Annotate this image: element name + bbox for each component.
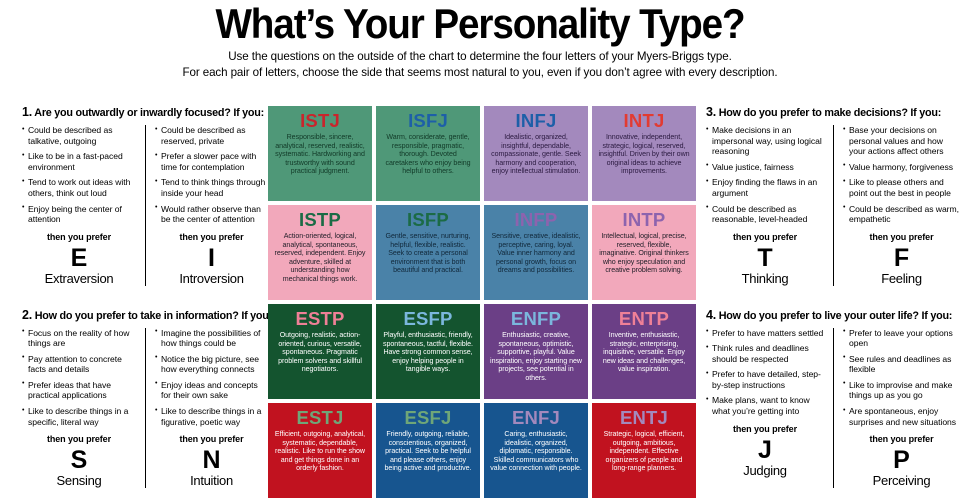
question-2-left-then: then you prefer [22,434,136,444]
type-code: INFJ [490,110,582,131]
question-4-option-p[interactable]: Prefer to leave your options open See ru… [833,328,960,489]
preference-name-judging: Judging [706,463,824,478]
question-4-option-j[interactable]: Prefer to have matters settled Think rul… [706,328,833,489]
type-card-isfp[interactable]: ISFP Gentle, sensitive, nurturing, helpf… [376,205,480,300]
question-4-columns: Prefer to have matters settled Think rul… [706,328,960,489]
preference-name-intuition: Intuition [155,473,268,488]
question-3-text: How do you prefer to make decisions? If … [719,107,941,119]
question-3-title: 3. How do you prefer to make decisions? … [706,106,960,120]
list-item: Like to describe things in a specific, l… [22,406,136,427]
question-block-4: 4. How do you prefer to live your outer … [706,301,960,503]
type-description: Action-oriented, logical, analytical, sp… [274,232,366,283]
type-description: Efficient, outgoing, analytical, systema… [274,430,366,473]
preference-name-extraversion: Extraversion [22,271,136,286]
list-item: Enjoy finding the flaws in an argument [706,177,824,198]
type-card-estp[interactable]: ESTP Outgoing, realistic, action-oriente… [268,304,372,399]
type-description: Sensitive, creative, idealistic, percept… [490,232,582,275]
question-2-columns: Focus on the reality of how things are P… [22,328,268,489]
type-code: ISFJ [382,110,474,131]
type-code: ISFP [382,209,474,230]
list-item: Make decisions in an impersonal way, usi… [706,125,824,157]
type-code: ENTJ [598,407,690,428]
preference-letter-p: P [843,447,960,473]
question-1-right-bullets: Could be described as reserved, private … [155,125,268,225]
question-3-right-then: then you prefer [843,232,960,242]
question-2-option-n[interactable]: Imagine the possibilities of how things … [145,328,268,489]
question-4-left-then: then you prefer [706,424,824,434]
type-card-intj[interactable]: INTJ Innovative, independent, strategic,… [592,106,696,201]
type-grid: ISTJ Responsible, sincere, analytical, r… [268,106,692,503]
list-item: Make plans, want to know what you’re get… [706,395,824,416]
type-code: ISTJ [274,110,366,131]
question-2-text: How do you prefer to take in information… [35,310,272,322]
type-code: ESTJ [274,407,366,428]
question-2-right-bullets: Imagine the possibilities of how things … [155,328,268,428]
question-4-right-then: then you prefer [843,434,960,444]
type-code: ISTP [274,209,366,230]
question-4-title: 4. How do you prefer to live your outer … [706,309,960,323]
type-code: INFP [490,209,582,230]
question-4-text: How do you prefer to live your outer lif… [719,310,952,322]
question-2-title: 2. How do you prefer to take in informat… [22,309,268,323]
list-item: Could be described as reserved, private [155,125,268,146]
question-block-1: 1. Are you outwardly or inwardly focused… [22,106,268,301]
question-1-columns: Could be described as talkative, outgoin… [22,125,268,286]
list-item: Pay attention to concrete facts and deta… [22,354,136,375]
type-description: Idealistic, organized, insightful, depen… [490,133,582,176]
type-card-intp[interactable]: INTP Intellectual, logical, precise, res… [592,205,696,300]
list-item: Value justice, fairness [706,162,824,173]
list-item: Prefer to have matters settled [706,328,824,339]
type-description: Caring, enthusiastic, idealistic, organi… [490,430,582,473]
question-4-left-bullets: Prefer to have matters settled Think rul… [706,328,824,417]
chart-body: 1. Are you outwardly or inwardly focused… [0,106,960,503]
question-1-title: 1. Are you outwardly or inwardly focused… [22,106,268,120]
list-item: Focus on the reality of how things are [22,328,136,349]
list-item: Imagine the possibilities of how things … [155,328,268,349]
question-3-columns: Make decisions in an impersonal way, usi… [706,125,960,286]
list-item: Would rather observe than be the center … [155,204,268,225]
question-block-2: 2. How do you prefer to take in informat… [22,301,268,503]
list-item: See rules and deadlines as flexible [843,354,960,375]
preference-letter-i: I [155,245,268,271]
type-code: ENFJ [490,407,582,428]
type-card-infj[interactable]: INFJ Idealistic, organized, insightful, … [484,106,588,201]
list-item: Prefer ideas that have practical applica… [22,380,136,401]
type-card-isfj[interactable]: ISFJ Warm, considerate, gentle, responsi… [376,106,480,201]
page-title: What’s Your Personality Type? [38,2,921,49]
list-item: Base your decisions on personal values a… [843,125,960,157]
list-item: Prefer to leave your options open [843,328,960,349]
type-card-esfp[interactable]: ESFP Playful, enthusiastic, friendly, sp… [376,304,480,399]
subtitle-line-2: For each pair of letters, choose the sid… [0,65,960,81]
preference-name-introversion: Introversion [155,271,268,286]
question-1-option-i[interactable]: Could be described as reserved, private … [145,125,268,286]
question-2-right-then: then you prefer [155,434,268,444]
type-card-entj[interactable]: ENTJ Strategic, logical, efficient, outg… [592,403,696,498]
question-1-right-then: then you prefer [155,232,268,242]
question-3-left-bullets: Make decisions in an impersonal way, usi… [706,125,824,225]
list-item: Notice the big picture, see how everythi… [155,354,268,375]
question-1-left-then: then you prefer [22,232,136,242]
type-card-entp[interactable]: ENTP Inventive, enthusiastic, strategic,… [592,304,696,399]
question-2-left-bullets: Focus on the reality of how things are P… [22,328,136,428]
list-item: Prefer to have detailed, step-by-step in… [706,369,824,390]
type-code: ESFP [382,308,474,329]
type-code: ESFJ [382,407,474,428]
list-item: Are spontaneous, enjoy surprises and new… [843,406,960,427]
type-description: Warm, considerate, gentle, responsible, … [382,133,474,176]
preference-name-perceiving: Perceiving [843,473,960,488]
page-header: What’s Your Personality Type? Use the qu… [0,0,960,81]
type-card-infp[interactable]: INFP Sensitive, creative, idealistic, pe… [484,205,588,300]
question-3-left-then: then you prefer [706,232,824,242]
type-description: Friendly, outgoing, reliable, conscienti… [382,430,474,473]
type-card-enfp[interactable]: ENFP Enthusiastic, creative, spontaneous… [484,304,588,399]
type-description: Enthusiastic, creative, spontaneous, opt… [490,331,582,382]
list-item: Tend to think things through inside your… [155,177,268,198]
question-1-left-bullets: Could be described as talkative, outgoin… [22,125,136,225]
type-description: Innovative, independent, strategic, logi… [598,133,690,176]
type-code: ESTP [274,308,366,329]
preference-name-thinking: Thinking [706,271,824,286]
preference-letter-j: J [706,437,824,463]
list-item: Tend to work out ideas with others, thin… [22,177,136,198]
type-card-istj[interactable]: ISTJ Responsible, sincere, analytical, r… [268,106,372,201]
type-description: Outgoing, realistic, action-oriented, cu… [274,331,366,374]
type-code: INTP [598,209,690,230]
type-code: INTJ [598,110,690,131]
type-description: Responsible, sincere, analytical, reserv… [274,133,366,176]
type-card-enfj[interactable]: ENFJ Caring, enthusiastic, idealistic, o… [484,403,588,498]
list-item: Could be described as reasonable, level-… [706,204,824,225]
preference-letter-n: N [155,447,268,473]
preference-letter-s: S [22,447,136,473]
personality-type-chart: What’s Your Personality Type? Use the qu… [0,0,960,503]
type-card-istp[interactable]: ISTP Action-oriented, logical, analytica… [268,205,372,300]
type-description: Inventive, enthusiastic, strategic, ente… [598,331,690,374]
list-item: Like to describe things in a figurative,… [155,406,268,427]
list-item: Like to be in a fast-paced environment [22,151,136,172]
question-3-option-t[interactable]: Make decisions in an impersonal way, usi… [706,125,833,286]
list-item: Value harmony, forgiveness [843,162,960,173]
type-code: ENTP [598,308,690,329]
preference-letter-f: F [843,245,960,271]
question-2-option-s[interactable]: Focus on the reality of how things are P… [22,328,145,489]
list-item: Could be described as warm, empathetic [843,204,960,225]
preference-letter-e: E [22,245,136,271]
right-question-column: 3. How do you prefer to make decisions? … [692,106,960,503]
list-item: Could be described as talkative, outgoin… [22,125,136,146]
question-1-text: Are you outwardly or inwardly focused? I… [34,107,264,119]
type-card-esfj[interactable]: ESFJ Friendly, outgoing, reliable, consc… [376,403,480,498]
type-description: Intellectual, logical, precise, reserved… [598,232,690,275]
list-item: Like to please others and point out the … [843,177,960,198]
preference-name-sensing: Sensing [22,473,136,488]
list-item: Like to improvise and make things up as … [843,380,960,401]
question-block-3: 3. How do you prefer to make decisions? … [706,106,960,301]
preference-letter-t: T [706,245,824,271]
subtitle-line-1: Use the questions on the outside of the … [0,49,960,65]
question-2-number: 2. [22,308,32,322]
question-4-right-bullets: Prefer to leave your options open See ru… [843,328,960,428]
type-description: Playful, enthusiastic, friendly, spontan… [382,331,474,374]
list-item: Think rules and deadlines should be resp… [706,343,824,364]
list-item: Enjoy ideas and concepts for their own s… [155,380,268,401]
question-3-number: 3. [706,105,716,119]
preference-name-feeling: Feeling [843,271,960,286]
question-4-number: 4. [706,308,716,322]
question-3-option-f[interactable]: Base your decisions on personal values a… [833,125,960,286]
type-card-estj[interactable]: ESTJ Efficient, outgoing, analytical, sy… [268,403,372,498]
list-item: Prefer a slower pace with time for conte… [155,151,268,172]
left-question-column: 1. Are you outwardly or inwardly focused… [0,106,268,503]
type-code: ENFP [490,308,582,329]
list-item: Enjoy being the center of attention [22,204,136,225]
type-description: Strategic, logical, efficient, outgoing,… [598,430,690,473]
question-1-option-e[interactable]: Could be described as talkative, outgoin… [22,125,145,286]
question-3-right-bullets: Base your decisions on personal values a… [843,125,960,225]
type-description: Gentle, sensitive, nurturing, helpful, f… [382,232,474,275]
question-1-number: 1. [22,105,32,119]
